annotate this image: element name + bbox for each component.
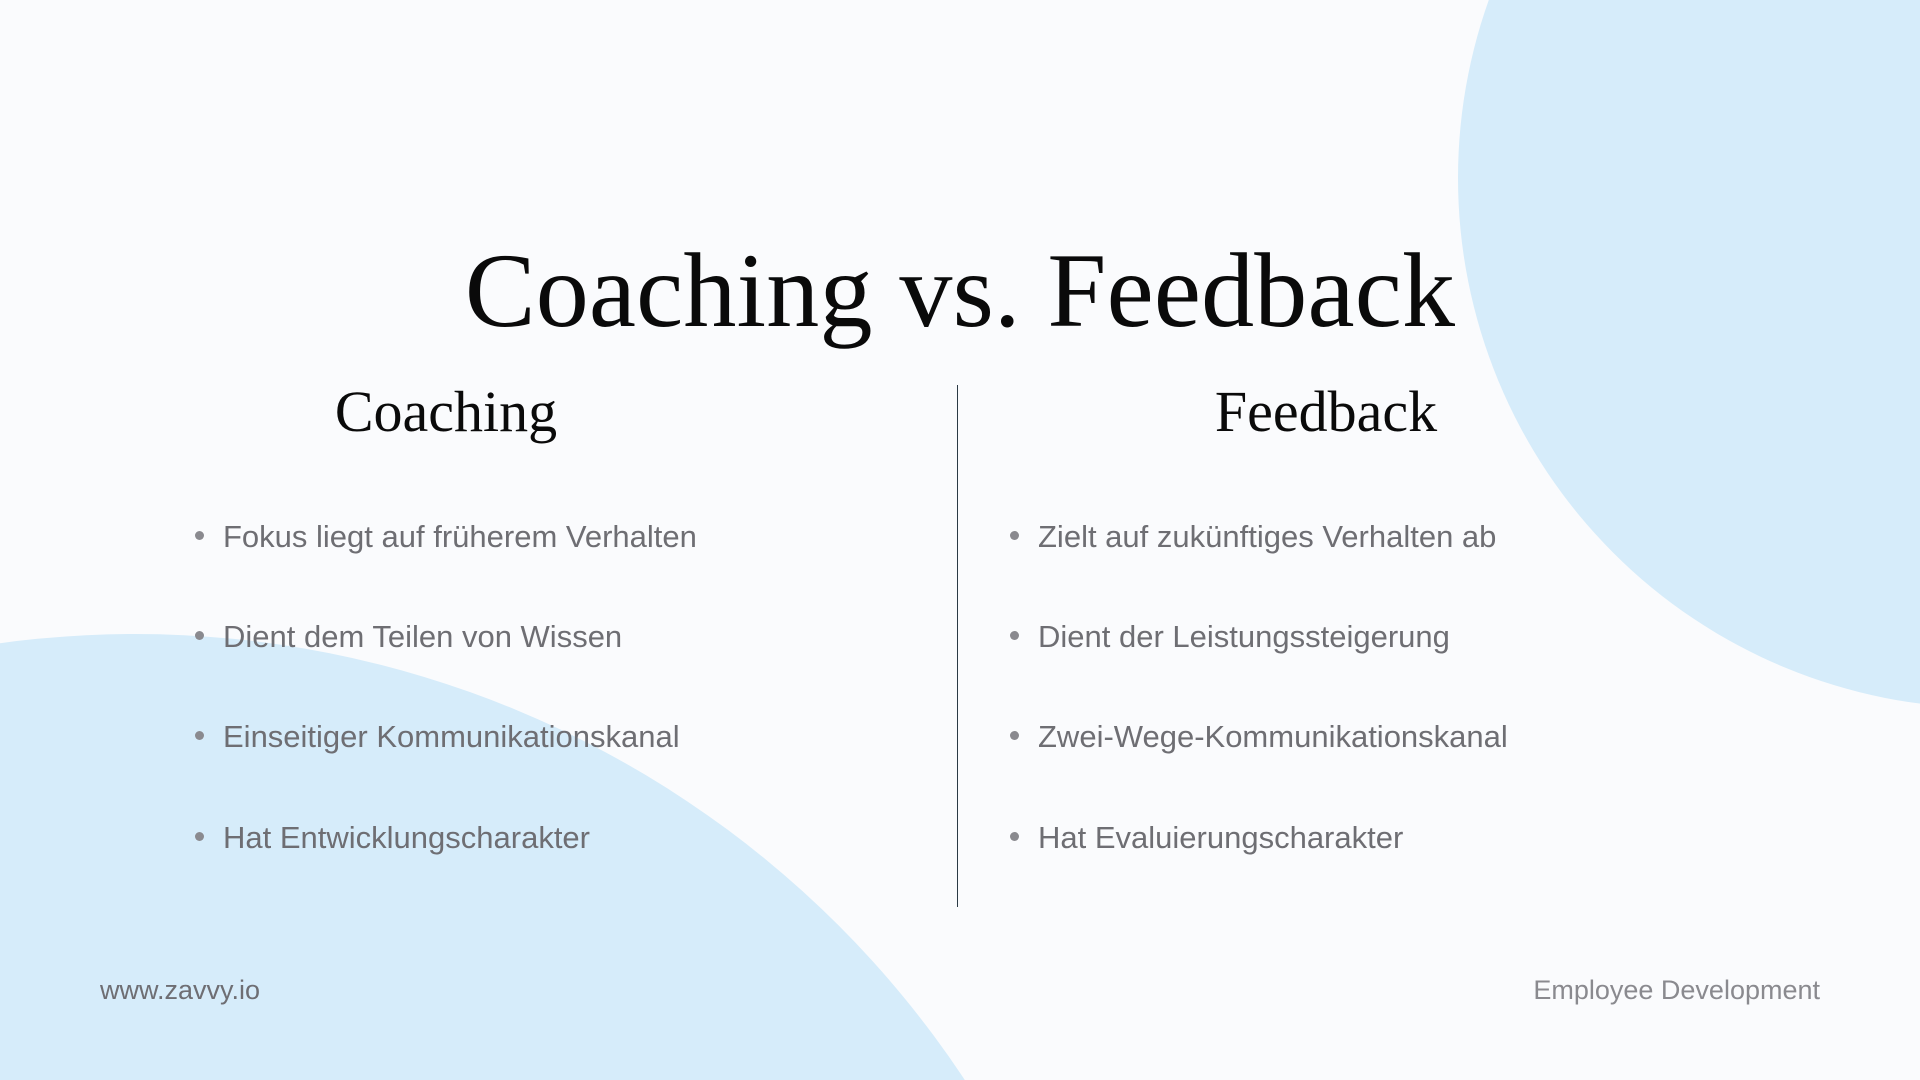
bullet-list-coaching: Fokus liegt auf früherem Verhalten Dient… [195, 518, 697, 856]
bullet-dot-icon [195, 731, 204, 740]
column-heading-feedback: Feedback [1010, 380, 1810, 444]
bullet-dot-icon [1010, 531, 1019, 540]
bullet-list-feedback: Zielt auf zukünftiges Verhalten ab Dient… [1010, 518, 1508, 856]
list-item-label: Zwei-Wege-Kommunikationskanal [1038, 719, 1508, 754]
column-coaching: Coaching Fokus liegt auf früherem Verhal… [150, 380, 910, 444]
column-heading-coaching: Coaching [150, 380, 910, 444]
list-item-label: Dient dem Teilen von Wissen [223, 619, 622, 654]
page-title: Coaching vs. Feedback [0, 235, 1920, 346]
list-item: Hat Entwicklungscharakter [195, 819, 697, 856]
list-item-label: Hat Evaluierungscharakter [1038, 820, 1403, 855]
footer-topic-label: Employee Development [1533, 975, 1820, 1006]
bullet-dot-icon [1010, 832, 1019, 841]
footer-website-url[interactable]: www.zavvy.io [100, 975, 260, 1006]
bullet-dot-icon [1010, 731, 1019, 740]
list-item: Zielt auf zukünftiges Verhalten ab [1010, 518, 1508, 555]
list-item-label: Dient der Leistungssteigerung [1038, 619, 1450, 654]
list-item-label: Zielt auf zukünftiges Verhalten ab [1038, 519, 1496, 554]
list-item: Hat Evaluierungscharakter [1010, 819, 1508, 856]
bullet-dot-icon [195, 531, 204, 540]
list-item: Fokus liegt auf früherem Verhalten [195, 518, 697, 555]
list-item-label: Einseitiger Kommunikationskanal [223, 719, 680, 754]
column-feedback: Feedback Zielt auf zukünftiges Verhalten… [1010, 380, 1810, 444]
column-divider [957, 385, 958, 907]
bullet-dot-icon [1010, 631, 1019, 640]
bullet-dot-icon [195, 631, 204, 640]
slide-content: Coaching vs. Feedback Coaching Fokus lie… [0, 0, 1920, 1080]
list-item: Dient der Leistungssteigerung [1010, 618, 1508, 655]
list-item: Zwei-Wege-Kommunikationskanal [1010, 718, 1508, 755]
list-item-label: Hat Entwicklungscharakter [223, 820, 590, 855]
list-item-label: Fokus liegt auf früherem Verhalten [223, 519, 697, 554]
list-item: Einseitiger Kommunikationskanal [195, 718, 697, 755]
list-item: Dient dem Teilen von Wissen [195, 618, 697, 655]
bullet-dot-icon [195, 832, 204, 841]
